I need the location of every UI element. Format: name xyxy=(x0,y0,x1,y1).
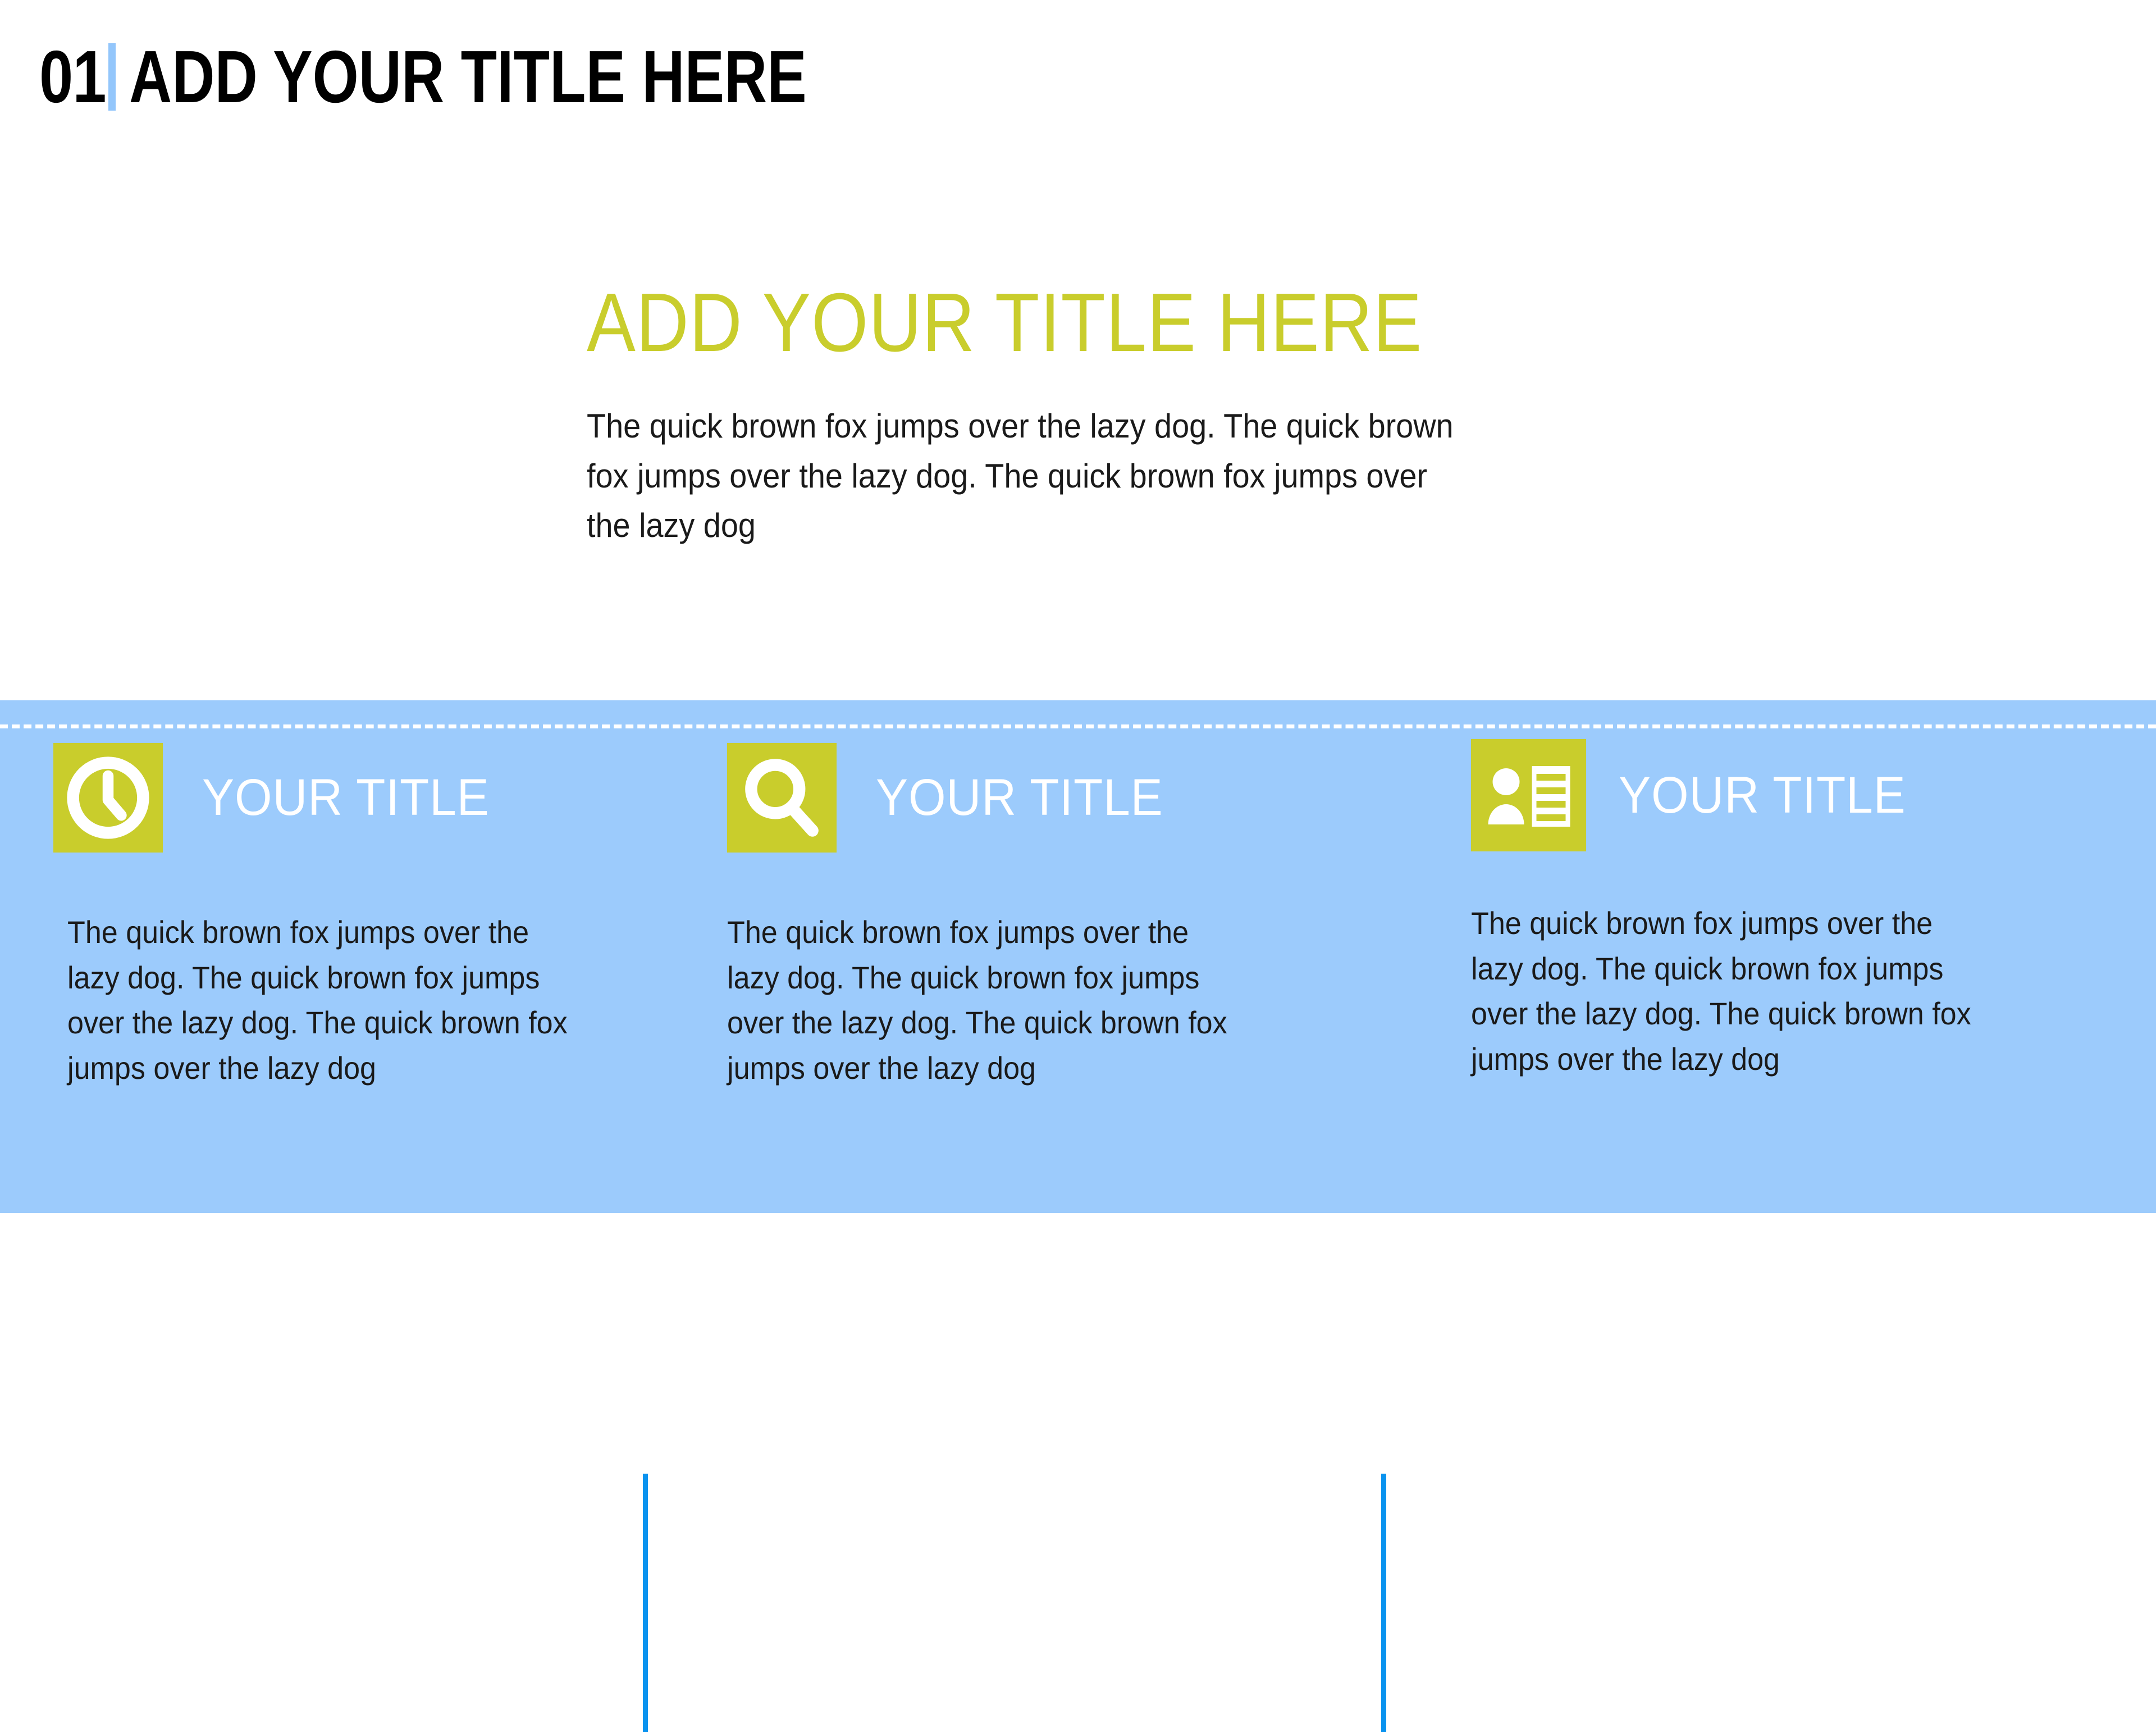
feature-column-1: YOUR TITLE The quick brown fox jumps ove… xyxy=(53,699,620,1091)
feature-columns: YOUR TITLE The quick brown fox jumps ove… xyxy=(0,699,2156,1213)
column-divider-1 xyxy=(643,1474,648,1732)
clock-icon xyxy=(53,743,163,853)
header-divider-rule xyxy=(108,43,116,111)
feature-column-2-title: YOUR TITLE xyxy=(876,772,1163,823)
feature-column-2: YOUR TITLE The quick brown fox jumps ove… xyxy=(727,699,1294,1091)
center-body-text: The quick brown fox jumps over the lazy … xyxy=(587,402,1464,551)
center-content-block: ADD YOUR TITLE HERE The quick brown fox … xyxy=(587,278,1575,551)
feature-column-1-header: YOUR TITLE xyxy=(53,741,620,854)
column-divider-2 xyxy=(1381,1474,1386,1732)
magnifier-icon xyxy=(727,743,837,853)
page-title: ADD YOUR TITLE HERE xyxy=(129,40,807,114)
slide-header: 01 ADD YOUR TITLE HERE xyxy=(39,35,976,119)
contact-card-icon xyxy=(1471,739,1586,851)
feature-column-3-title: YOUR TITLE xyxy=(1619,769,1906,821)
feature-column-3: YOUR TITLE The quick brown fox jumps ove… xyxy=(1471,699,2038,1082)
feature-column-2-body: The quick brown fox jumps over the lazy … xyxy=(727,910,1228,1091)
feature-column-3-body: The quick brown fox jumps over the lazy … xyxy=(1471,901,1972,1082)
feature-column-1-body: The quick brown fox jumps over the lazy … xyxy=(67,910,569,1091)
header-section-number: 01 xyxy=(39,40,106,114)
feature-column-3-header: YOUR TITLE xyxy=(1471,739,2038,851)
feature-column-2-header: YOUR TITLE xyxy=(727,741,1294,854)
feature-band: YOUR TITLE The quick brown fox jumps ove… xyxy=(0,699,2156,1213)
feature-column-1-title: YOUR TITLE xyxy=(202,772,490,823)
center-heading: ADD YOUR TITLE HERE xyxy=(587,278,1456,368)
